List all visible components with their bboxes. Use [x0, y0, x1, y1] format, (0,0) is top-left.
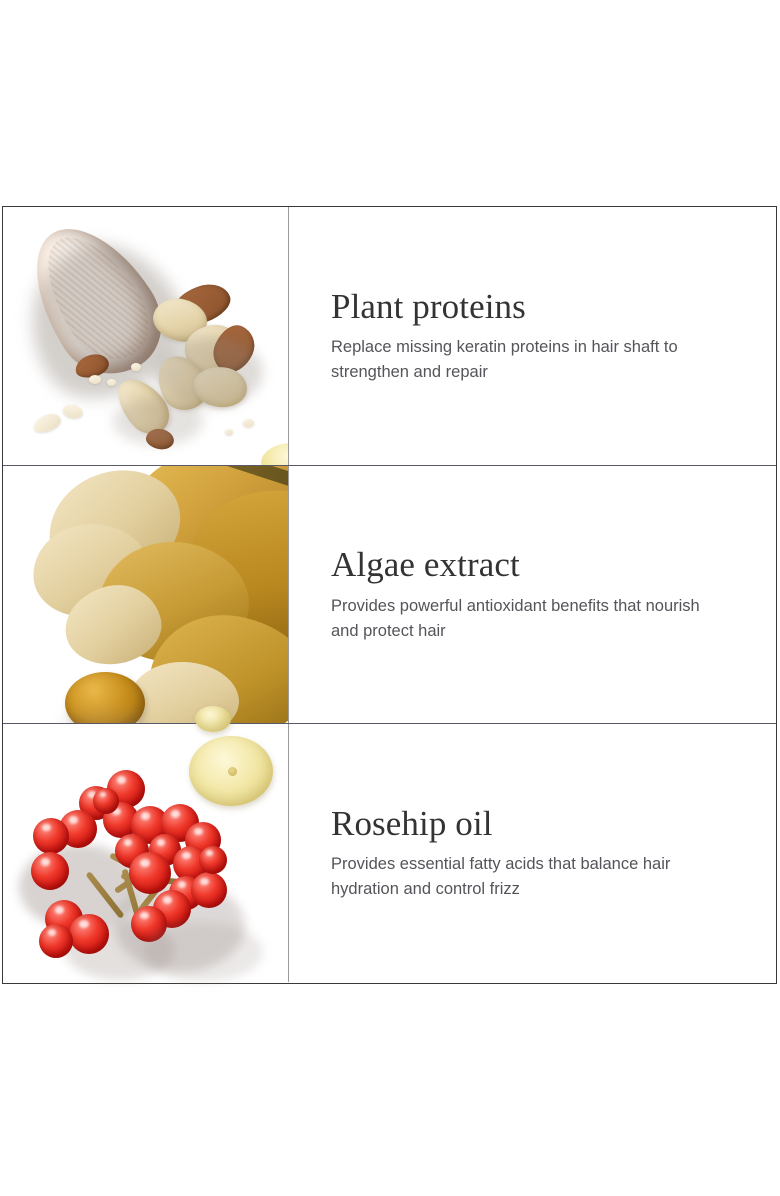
almond-flake: [131, 363, 141, 371]
almond-flake: [62, 403, 85, 420]
ingredient-title: Rosehip oil: [331, 804, 756, 843]
oil-droplet-large: [189, 736, 273, 806]
almond-flake: [225, 429, 233, 435]
rosehip-berry: [69, 914, 109, 954]
piece-shadow: [113, 397, 203, 445]
rosehip-berry: [39, 924, 73, 958]
ingredient-row-plant-proteins: Plant proteins Replace missing keratin p…: [3, 207, 776, 465]
ingredient-row-algae-extract: Algae extract Provides powerful antioxid…: [3, 465, 776, 724]
ingredient-description: Provides essential fatty acids that bala…: [331, 852, 731, 902]
rosehip-berry: [31, 852, 69, 890]
ingredient-title: Algae extract: [331, 545, 756, 584]
droplet-core: [228, 767, 237, 776]
ingredient-image-algae-extract: [3, 466, 289, 723]
oil-droplet-small: [195, 706, 231, 732]
rosehip-illustration: [3, 724, 288, 982]
rosehip-berry: [129, 852, 171, 894]
ingredient-text-algae-extract: Algae extract Provides powerful antioxid…: [289, 466, 776, 723]
rosehip-berry: [199, 846, 227, 874]
oil-droplet-edge: [261, 443, 289, 465]
almond-flake: [243, 419, 254, 427]
ingredient-description: Replace missing keratin proteins in hair…: [331, 335, 731, 385]
ingredient-row-rosehip-oil: Rosehip oil Provides essential fatty aci…: [3, 724, 776, 982]
ingredient-image-plant-proteins: [3, 207, 289, 465]
ingredient-benefits-grid: Plant proteins Replace missing keratin p…: [2, 206, 777, 984]
cluster-shadow: [143, 922, 263, 982]
ingredient-description: Provides powerful antioxidant benefits t…: [331, 594, 731, 644]
ingredient-text-plant-proteins: Plant proteins Replace missing keratin p…: [289, 207, 776, 465]
rosehip-berry: [33, 818, 69, 854]
piece-shadow: [153, 337, 263, 407]
ingredient-text-rosehip-oil: Rosehip oil Provides essential fatty aci…: [289, 724, 776, 982]
rosehip-berry: [191, 872, 227, 908]
ingredient-image-rosehip-oil: [3, 724, 289, 982]
kelp-illustration: [3, 466, 288, 723]
ingredient-title: Plant proteins: [331, 287, 756, 326]
rosehip-berry: [93, 788, 119, 814]
almond-flake: [31, 410, 63, 435]
almond-flake: [89, 375, 101, 384]
almond-flake: [107, 379, 116, 386]
almond-illustration: [3, 207, 288, 465]
